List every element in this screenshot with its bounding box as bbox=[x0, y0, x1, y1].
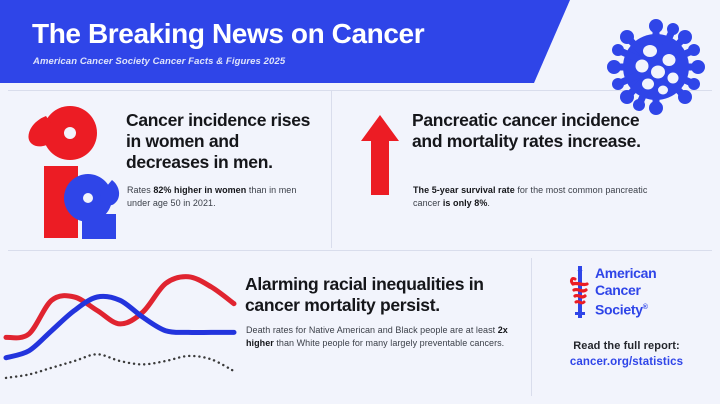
divider-horizontal-middle bbox=[8, 250, 712, 251]
acs-wordmark: American Cancer Society® bbox=[595, 265, 656, 319]
panel-3-subtext: Death rates for Native American and Blac… bbox=[246, 324, 521, 349]
registered-mark: ® bbox=[643, 304, 648, 311]
chart-series-dotted-curve bbox=[6, 354, 234, 378]
divider-vertical-bottom bbox=[531, 258, 532, 396]
panel-racial-inequalities: Alarming racial inequalities in cancer m… bbox=[0, 252, 531, 404]
page-title: The Breaking News on Cancer bbox=[32, 17, 424, 51]
report-url-link[interactable]: cancer.org/statistics bbox=[533, 356, 720, 368]
panel-2-headline: Pancreatic cancer incidence and mortalit… bbox=[412, 110, 652, 152]
panel-pancreatic-cancer: Pancreatic cancer incidence and mortalit… bbox=[333, 92, 720, 248]
panel-1-subtext: Rates 82% higher in women than in men un… bbox=[127, 184, 322, 209]
panel-incidence-by-sex: Cancer incidence rises in women and decr… bbox=[0, 92, 331, 248]
infographic-root: The Breaking News on Cancer American Can… bbox=[0, 0, 720, 404]
divider-vertical-top bbox=[331, 90, 332, 248]
panel-1-headline: Cancer incidence rises in women and decr… bbox=[126, 110, 326, 173]
people-figures-icon bbox=[16, 104, 124, 239]
chart-series-red-curve bbox=[6, 277, 234, 338]
header-banner: The Breaking News on Cancer American Can… bbox=[0, 0, 570, 83]
acs-logo: American Cancer Society® bbox=[569, 264, 699, 320]
mortality-trend-curves bbox=[0, 264, 240, 394]
panel-2-subtext: The 5-year survival rate for the most co… bbox=[413, 184, 663, 209]
chart-series-blue-curve bbox=[6, 296, 234, 357]
report-label: Read the full report: bbox=[533, 340, 720, 352]
acs-sword-serpent-icon bbox=[569, 264, 591, 320]
acs-wordmark-line-2: Cancer bbox=[595, 282, 641, 298]
up-arrow-icon bbox=[360, 114, 400, 196]
acs-wordmark-line-1: American bbox=[595, 265, 656, 281]
acs-wordmark-line-3: Society bbox=[595, 302, 643, 318]
panel-acs-footer: American Cancer Society® Read the full r… bbox=[533, 252, 720, 404]
page-subtitle: American Cancer Society Cancer Facts & F… bbox=[33, 56, 285, 67]
panel-3-headline: Alarming racial inequalities in cancer m… bbox=[245, 274, 530, 316]
